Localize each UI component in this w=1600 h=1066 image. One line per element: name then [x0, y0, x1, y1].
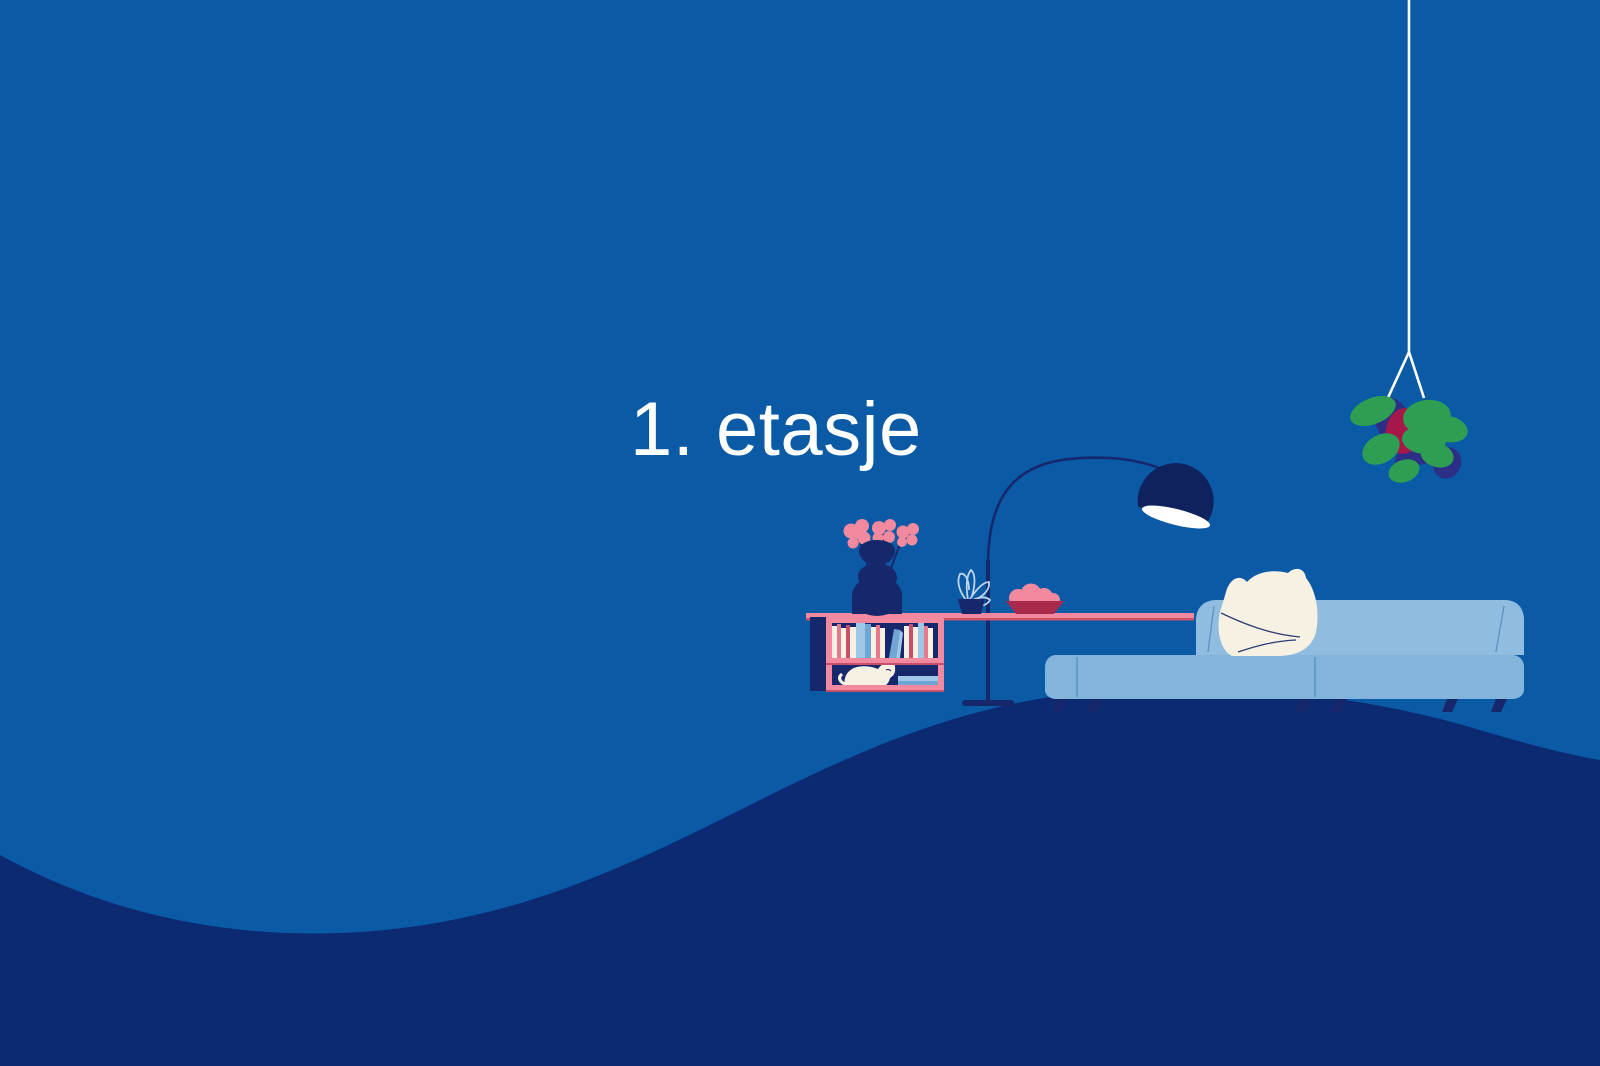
sofa-pillow-body: [1219, 569, 1318, 656]
bookshelf-shelf-shadow: [826, 690, 944, 692]
fruit-bowl-basin: [1006, 601, 1064, 614]
page-title: 1. etasje: [630, 392, 922, 468]
stacked-books: [898, 676, 938, 686]
bookshelf-side-shadow: [810, 617, 820, 691]
living-room-illustration: [0, 0, 1600, 1066]
slide-canvas: 1. etasje: [0, 0, 1600, 1066]
bookshelf: [810, 617, 944, 692]
bookshelf-shelf-shadow: [826, 663, 944, 665]
vase-foot: [852, 596, 902, 614]
potted-plant-pot: [958, 599, 985, 614]
sofa-seat: [1045, 655, 1524, 699]
sofa-pillow: [1219, 569, 1318, 656]
